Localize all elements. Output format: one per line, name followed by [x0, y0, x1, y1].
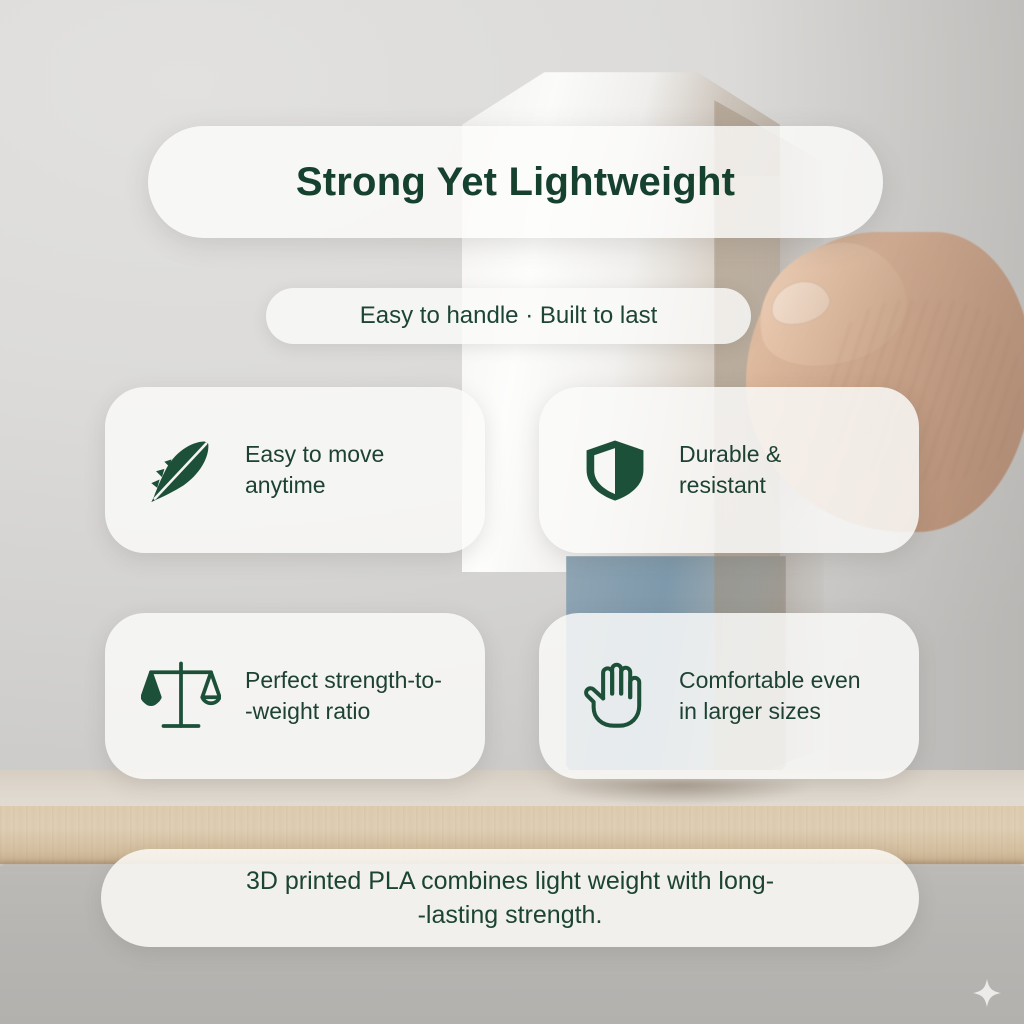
title-pill: Strong Yet Lightweight [148, 126, 883, 238]
feature-label: Comfortable even in larger sizes [679, 665, 861, 727]
page-subtitle: Easy to handle · Built to last [360, 302, 658, 330]
feature-card-durable[interactable]: Durable & resistant [539, 387, 919, 553]
page-title: Strong Yet Lightweight [296, 160, 735, 205]
feature-card-comfortable[interactable]: Comfortable even in larger sizes [539, 613, 919, 779]
hand-icon [573, 654, 657, 738]
subtitle-pill: Easy to handle · Built to last [266, 288, 751, 344]
feature-label: Durable & resistant [679, 439, 781, 501]
feature-card-easy-to-move[interactable]: Easy to move anytime [105, 387, 485, 553]
infographic-overlay: Strong Yet Lightweight Easy to handle · … [0, 0, 1024, 1024]
footer-text: 3D printed PLA combines light weight wit… [246, 864, 774, 932]
feature-label: Easy to move anytime [245, 439, 384, 501]
footer-pill: 3D printed PLA combines light weight wit… [101, 849, 919, 947]
shield-icon [573, 428, 657, 512]
feather-icon [139, 428, 223, 512]
scales-icon [139, 654, 223, 738]
feature-card-strength-to-weight[interactable]: Perfect strength-to- -weight ratio [105, 613, 485, 779]
feature-label: Perfect strength-to- -weight ratio [245, 665, 442, 727]
